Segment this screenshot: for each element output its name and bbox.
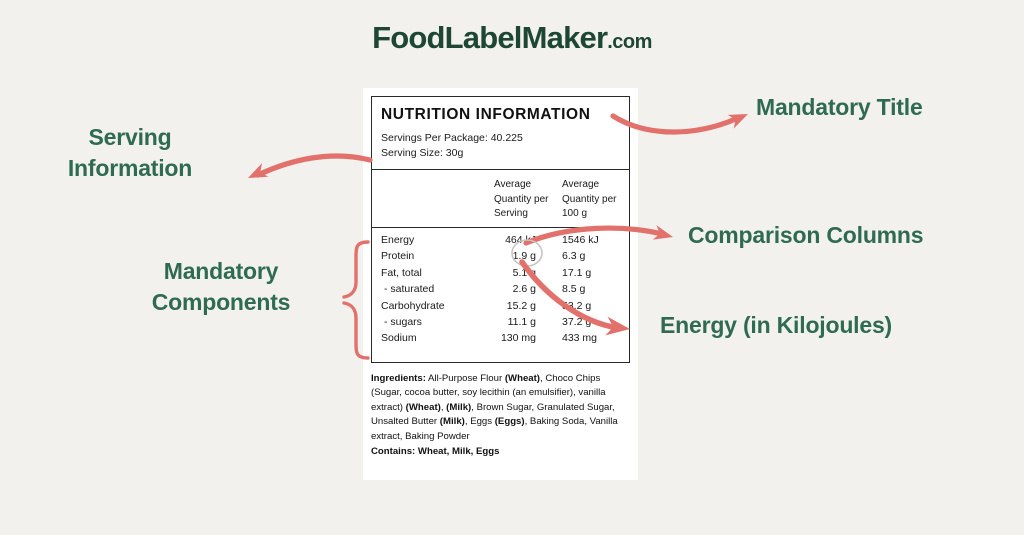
servings-per-package: Servings Per Package: 40.225	[381, 131, 629, 146]
col1-line3: Serving	[494, 207, 568, 222]
col1-line2: Quantity per	[494, 193, 568, 208]
nutrient-per-100g: 37.2 g	[562, 316, 591, 328]
nutrient-per-100g: 8.5 g	[562, 283, 585, 295]
col1-line1: Average	[494, 178, 568, 193]
annotation-energy-kilojoules: Energy (in Kilojoules)	[660, 310, 1010, 341]
nutrient-per-serving: 11.1 g	[494, 316, 536, 328]
brand-wordmark: FoodLabelMaker.com	[0, 20, 1024, 56]
infographic-canvas: FoodLabelMaker.com NUTRITION INFORMATION…	[0, 0, 1024, 535]
serving-size: Serving Size: 30g	[381, 146, 629, 161]
ingredients-heading: Ingredients:	[371, 373, 426, 384]
annotation-mandatory-title: Mandatory Title	[756, 92, 1016, 123]
table-row: Protein 1.9 g 6.3 g	[372, 250, 629, 266]
nutrient-per-serving: 464 kJ	[494, 234, 536, 246]
column-header-per-100g: Average Quantity per 100 g	[562, 178, 636, 222]
nutrition-information-panel: NUTRITION INFORMATION Servings Per Packa…	[371, 96, 630, 363]
col2-line1: Average	[562, 178, 636, 193]
nutrient-per-serving: 130 mg	[494, 332, 536, 344]
nutrient-name: Energy	[381, 234, 414, 246]
annotation-mandatory-components: Mandatory Components	[106, 256, 336, 318]
nutrient-name: Protein	[381, 250, 414, 262]
nutrient-name: - sugars	[384, 316, 422, 328]
annotation-comparison-columns: Comparison Columns	[688, 220, 1018, 251]
ingredients-block: Ingredients: All-Purpose Flour (Wheat), …	[371, 372, 633, 459]
nutrient-per-serving: 2.6 g	[494, 283, 536, 295]
col2-line3: 100 g	[562, 207, 636, 222]
nutrient-per-serving: 5.1 g	[494, 267, 536, 279]
nutrient-name: Sodium	[381, 332, 417, 344]
nutrient-rows: Energy 464 kJ 1546 kJ Protein 1.9 g 6.3 …	[372, 228, 629, 354]
table-row: Sodium 130 mg 433 mg	[372, 332, 629, 348]
nutrient-per-100g: 433 mg	[562, 332, 597, 344]
nutrient-per-100g: 17.1 g	[562, 267, 591, 279]
nutrient-per-100g: 53.2 g	[562, 300, 591, 312]
table-row: Energy 464 kJ 1546 kJ	[372, 234, 629, 250]
contains-statement: Contains: Wheat, Milk, Eggs	[371, 445, 633, 459]
nutrition-label-card: NUTRITION INFORMATION Servings Per Packa…	[363, 88, 638, 480]
nutrient-per-serving: 15.2 g	[494, 300, 536, 312]
arrow-serving-information	[245, 156, 370, 185]
serving-information-block: Servings Per Package: 40.225 Serving Siz…	[372, 124, 629, 170]
brand-name: FoodLabelMaker	[372, 20, 607, 55]
nutrient-name: Fat, total	[381, 267, 422, 279]
nutrient-per-serving: 1.9 g	[494, 250, 536, 262]
ingredients-statement: Ingredients: All-Purpose Flour (Wheat), …	[371, 372, 633, 444]
table-row: - saturated 2.6 g 8.5 g	[372, 283, 629, 299]
panel-title: NUTRITION INFORMATION	[372, 97, 629, 124]
table-row: - sugars 11.1 g 37.2 g	[372, 316, 629, 332]
column-header-per-serving: Average Quantity per Serving	[494, 178, 568, 222]
nutrient-per-100g: 6.3 g	[562, 250, 585, 262]
table-row: Fat, total 5.1 g 17.1 g	[372, 267, 629, 283]
col2-line2: Quantity per	[562, 193, 636, 208]
annotation-serving-information: Serving Information	[22, 122, 238, 184]
brand-tld: .com	[607, 31, 652, 53]
nutrient-name: Carbohydrate	[381, 300, 445, 312]
nutrient-name: - saturated	[384, 283, 434, 295]
column-headers: Average Quantity per Serving Average Qua…	[372, 170, 629, 228]
table-row: Carbohydrate 15.2 g 53.2 g	[372, 300, 629, 316]
nutrient-per-100g: 1546 kJ	[562, 234, 599, 246]
